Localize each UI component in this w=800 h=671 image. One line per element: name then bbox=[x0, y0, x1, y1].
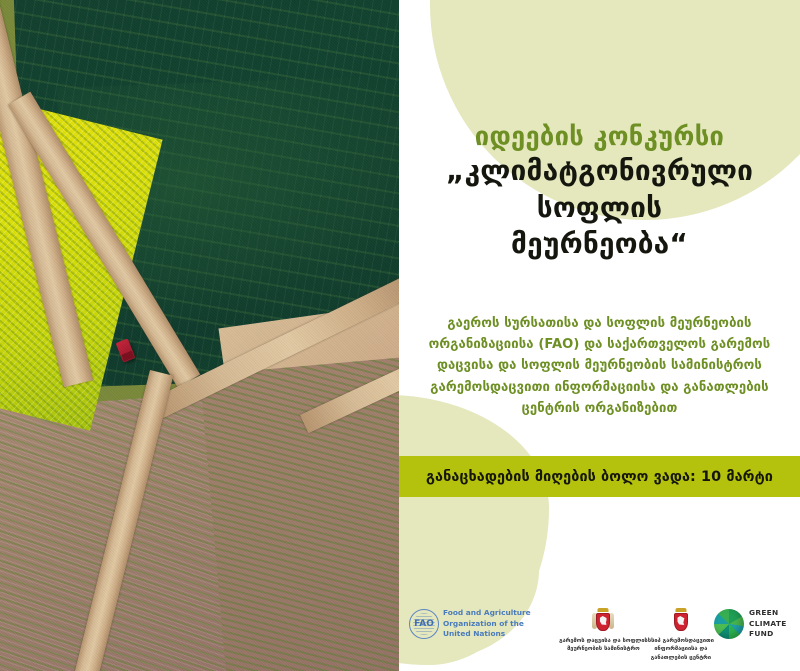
fao-emblem-icon: FAO bbox=[409, 609, 439, 639]
aerial-farm-photo bbox=[0, 0, 399, 671]
logo-environmental-info-center: სსიპ გარემოსდაცვითი ინფორმაციისა და განა… bbox=[648, 608, 714, 662]
body-line-5: ცენტრის ორგანიზებით bbox=[409, 398, 790, 419]
eiec-coat-of-arms-icon bbox=[670, 608, 692, 634]
eiec-text-line-2: ინფორმაციისა და bbox=[648, 645, 714, 653]
fao-logo-text: Food and Agriculture Organization of the… bbox=[443, 608, 531, 640]
title-line-1: იდეების კონკურსი bbox=[399, 122, 800, 153]
logo-fao: FAO Food and Agriculture Organization of… bbox=[409, 608, 559, 640]
ministry-text-line-2: მეურნეობის სამინისტრო bbox=[559, 645, 648, 653]
gcf-logo-text: GREEN CLIMATE FUND bbox=[749, 608, 787, 640]
fao-text-line-2: Organization of the bbox=[443, 619, 531, 630]
body-line-4: გარემოსდაცვითი ინფორმაციისა და განათლები… bbox=[409, 377, 790, 398]
fao-text-line-3: United Nations bbox=[443, 629, 531, 640]
body-line-1: გაეროს სურსათისა და სოფლის მეურნეობის bbox=[409, 313, 790, 334]
gcf-text-line-3: FUND bbox=[749, 629, 787, 640]
logo-ministry: გარემოს დაცვისა და სოფლის მეურნეობის სამ… bbox=[559, 608, 648, 654]
photo-canvas bbox=[0, 0, 399, 671]
content-inner: იდეების კონკურსი „კლიმატგონივრული სოფლის… bbox=[399, 0, 800, 671]
eiec-text-line-3: განათლების ცენტრი bbox=[648, 654, 714, 662]
content-panel: იდეების კონკურსი „კლიმატგონივრული სოფლის… bbox=[399, 0, 800, 671]
title-line-3: სოფლის bbox=[399, 190, 800, 226]
poster-title: იდეების კონკურსი „კლიმატგონივრული სოფლის… bbox=[399, 122, 800, 262]
body-line-3: დაცვისა და სოფლის მეურნეობის სამინისტროს bbox=[409, 355, 790, 376]
title-line-4: მეურნეობა“ bbox=[399, 226, 800, 262]
fao-emblem-letters: FAO bbox=[410, 610, 438, 638]
footer-logo-bar: FAO Food and Agriculture Organization of… bbox=[399, 608, 800, 671]
coa-crown-icon bbox=[598, 608, 609, 612]
eiec-text-line-1: სსიპ გარემოსდაცვითი bbox=[648, 637, 714, 645]
deadline-text: განაცხადების მიღების ბოლო ვადა: 10 მარტი bbox=[426, 469, 773, 485]
ministry-logo-text: გარემოს დაცვისა და სოფლის მეურნეობის სამ… bbox=[559, 637, 648, 654]
organizers-description: გაეროს სურსათისა და სოფლის მეურნეობის ორ… bbox=[409, 313, 790, 419]
fao-text-line-1: Food and Agriculture bbox=[443, 608, 531, 619]
poster-canvas: იდეების კონკურსი „კლიმატგონივრული სოფლის… bbox=[0, 0, 800, 671]
deadline-banner: განაცხადების მიღების ბოლო ვადა: 10 მარტი bbox=[399, 456, 800, 497]
logo-green-climate-fund: GREEN CLIMATE FUND bbox=[714, 608, 792, 640]
ministry-text-line-1: გარემოს დაცვისა და სოფლის bbox=[559, 637, 648, 645]
georgia-coat-of-arms-icon bbox=[592, 608, 614, 634]
gcf-text-line-1: GREEN bbox=[749, 608, 787, 619]
title-line-2: „კლიმატგონივრული bbox=[399, 153, 800, 189]
body-line-2: ორგანიზაციისა (FAO) და საქართველოს გარემ… bbox=[409, 334, 790, 355]
eiec-logo-text: სსიპ გარემოსდაცვითი ინფორმაციისა და განა… bbox=[648, 637, 714, 662]
green-globe-icon bbox=[714, 609, 744, 639]
gcf-text-line-2: CLIMATE bbox=[749, 619, 787, 630]
eiec-crown-icon bbox=[675, 608, 686, 612]
